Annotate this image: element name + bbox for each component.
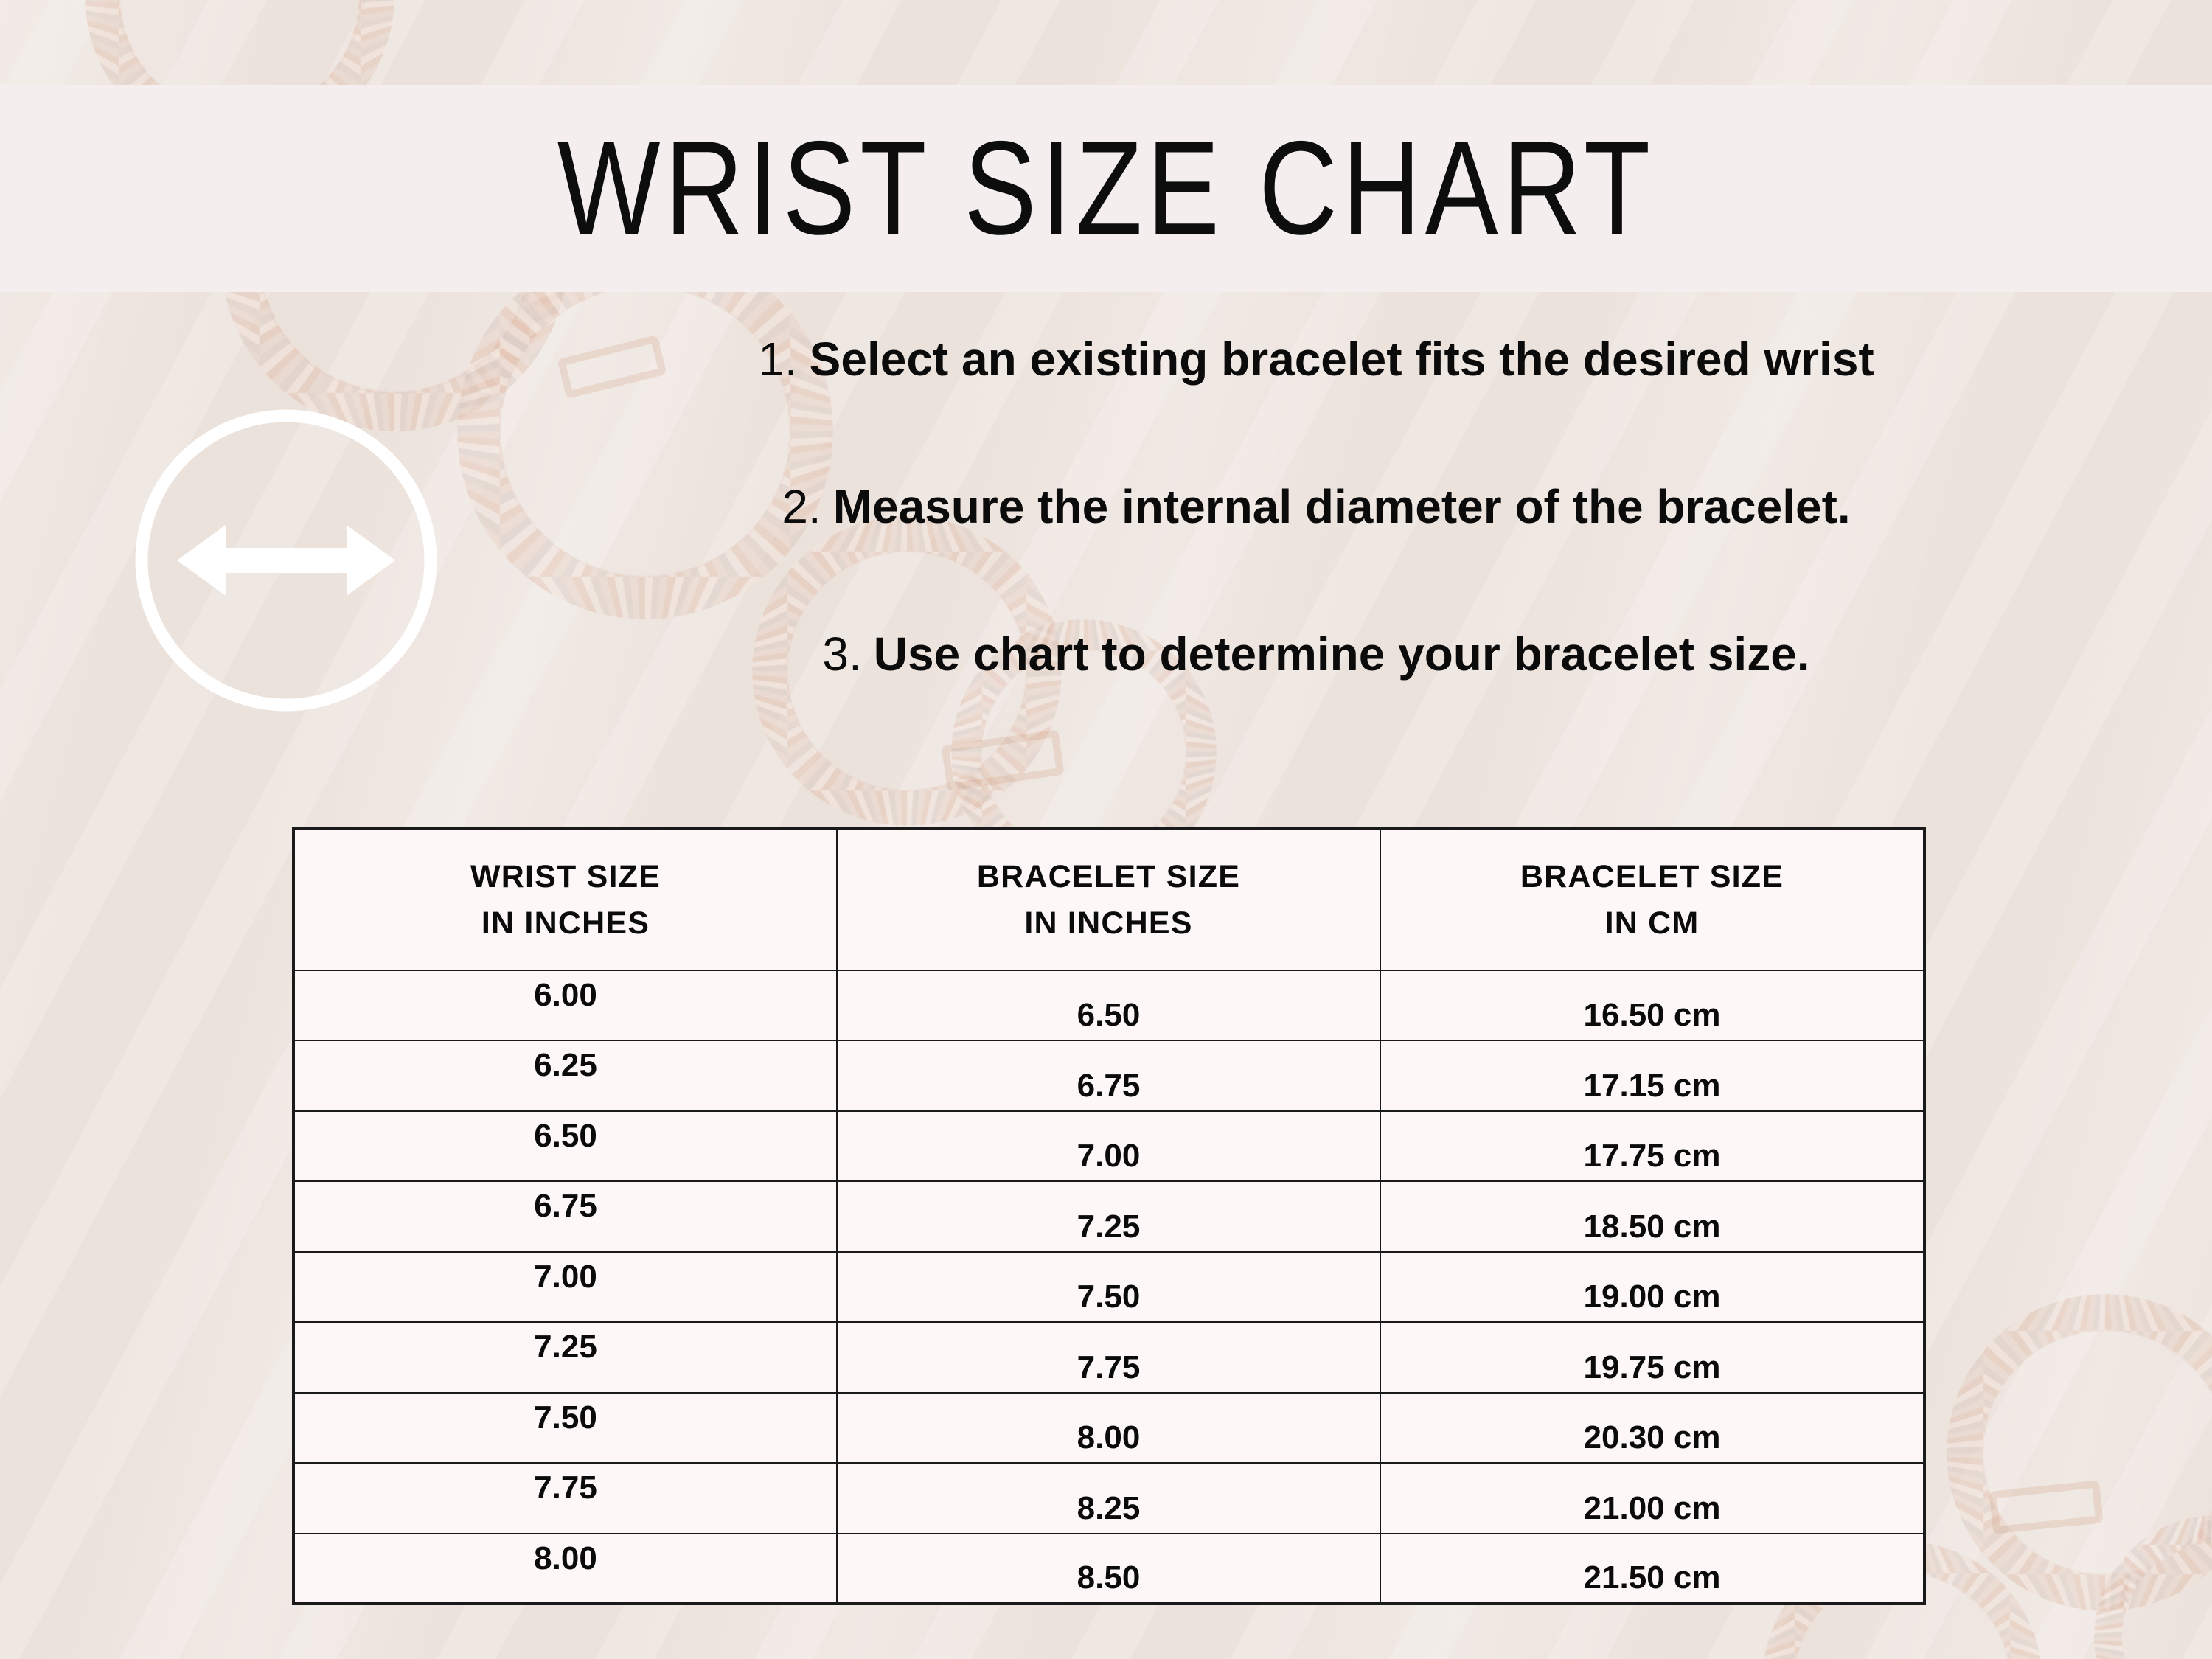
cell-wrist-size-inches: 6.00	[293, 970, 837, 1040]
cell-bracelet-size-cm: 21.50 cm	[1380, 1534, 1924, 1604]
column-header-line-2: IN INCHES	[845, 900, 1372, 946]
table-row: 7.508.0020.30 cm	[293, 1393, 1924, 1463]
cell-bracelet-size-inches: 8.00	[837, 1393, 1380, 1463]
cell-wrist-size-inches: 6.50	[293, 1111, 837, 1181]
cell-wrist-size-inches: 6.75	[293, 1181, 837, 1251]
cell-bracelet-size-inches: 7.75	[837, 1322, 1380, 1392]
table-row: 8.008.5021.50 cm	[293, 1534, 1924, 1604]
cell-bracelet-size-inches: 8.25	[837, 1463, 1380, 1533]
instruction-text: Measure the internal diameter of the bra…	[833, 479, 1851, 534]
instruction-number: 2.	[782, 479, 821, 534]
column-header-wrist-size-inches: WRIST SIZE IN INCHES	[293, 829, 837, 970]
column-header-bracelet-size-inches: BRACELET SIZE IN INCHES	[837, 829, 1380, 970]
cell-bracelet-size-cm: 19.00 cm	[1380, 1252, 1924, 1322]
table-row: 6.256.7517.15 cm	[293, 1040, 1924, 1110]
instruction-item-2: 2. Measure the internal diameter of the …	[457, 479, 2175, 627]
wrist-size-table: WRIST SIZE IN INCHES BRACELET SIZE IN IN…	[292, 827, 1926, 1605]
column-header-line-2: IN CM	[1388, 900, 1916, 946]
cell-bracelet-size-cm: 19.75 cm	[1380, 1322, 1924, 1392]
cell-wrist-size-inches: 7.25	[293, 1322, 837, 1392]
table-row: 6.006.5016.50 cm	[293, 970, 1924, 1040]
instruction-list: 1. Select an existing bracelet fits the …	[457, 332, 2175, 774]
cell-bracelet-size-inches: 7.25	[837, 1181, 1380, 1251]
cell-wrist-size-inches: 7.75	[293, 1463, 837, 1533]
table-header-row: WRIST SIZE IN INCHES BRACELET SIZE IN IN…	[293, 829, 1924, 970]
instruction-text: Use chart to determine your bracelet siz…	[874, 627, 1810, 681]
table-row: 7.007.5019.00 cm	[293, 1252, 1924, 1322]
instruction-text: Select an existing bracelet fits the des…	[810, 332, 1874, 386]
column-header-line-2: IN INCHES	[302, 900, 829, 946]
table-row: 6.507.0017.75 cm	[293, 1111, 1924, 1181]
page-title: WRIST SIZE CHART	[557, 122, 1655, 255]
cell-bracelet-size-cm: 16.50 cm	[1380, 970, 1924, 1040]
cell-bracelet-size-inches: 7.50	[837, 1252, 1380, 1322]
cell-bracelet-size-inches: 6.75	[837, 1040, 1380, 1110]
cell-bracelet-size-cm: 17.15 cm	[1380, 1040, 1924, 1110]
cell-wrist-size-inches: 7.50	[293, 1393, 837, 1463]
instruction-item-3: 3. Use chart to determine your bracelet …	[457, 627, 2175, 774]
column-header-line-1: WRIST SIZE	[302, 854, 829, 900]
cell-bracelet-size-inches: 8.50	[837, 1534, 1380, 1604]
instruction-number: 3.	[822, 627, 861, 681]
cell-bracelet-size-cm: 20.30 cm	[1380, 1393, 1924, 1463]
table-row: 7.758.2521.00 cm	[293, 1463, 1924, 1533]
title-banner: WRIST SIZE CHART	[0, 85, 2212, 292]
cell-wrist-size-inches: 7.00	[293, 1252, 837, 1322]
column-header-bracelet-size-cm: BRACELET SIZE IN CM	[1380, 829, 1924, 970]
instruction-item-1: 1. Select an existing bracelet fits the …	[457, 332, 2175, 479]
cell-bracelet-size-inches: 6.50	[837, 970, 1380, 1040]
measure-width-icon	[124, 398, 448, 723]
cell-bracelet-size-inches: 7.00	[837, 1111, 1380, 1181]
cell-bracelet-size-cm: 21.00 cm	[1380, 1463, 1924, 1533]
column-header-line-1: BRACELET SIZE	[1388, 854, 1916, 900]
table-header: WRIST SIZE IN INCHES BRACELET SIZE IN IN…	[293, 829, 1924, 970]
cell-wrist-size-inches: 6.25	[293, 1040, 837, 1110]
table-row: 6.757.2518.50 cm	[293, 1181, 1924, 1251]
column-header-line-1: BRACELET SIZE	[845, 854, 1372, 900]
table-body: 6.006.5016.50 cm6.256.7517.15 cm6.507.00…	[293, 970, 1924, 1604]
cell-wrist-size-inches: 8.00	[293, 1534, 837, 1604]
cell-bracelet-size-cm: 17.75 cm	[1380, 1111, 1924, 1181]
cell-bracelet-size-cm: 18.50 cm	[1380, 1181, 1924, 1251]
table-row: 7.257.7519.75 cm	[293, 1322, 1924, 1392]
instruction-number: 1.	[758, 332, 797, 386]
